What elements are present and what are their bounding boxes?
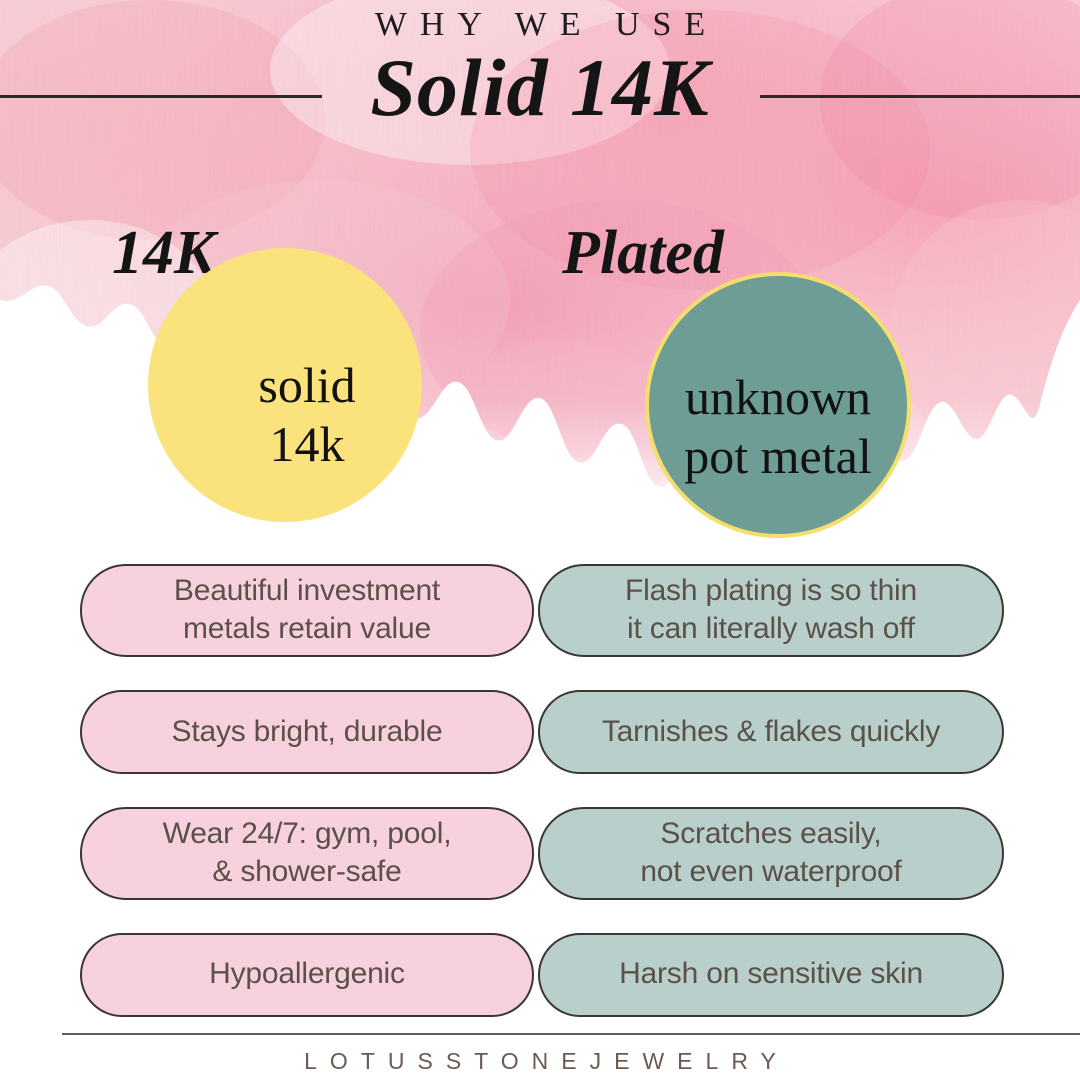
circle-plated-line1: unknown	[684, 368, 871, 427]
pill-text-line1: Stays bright, durable	[172, 713, 443, 751]
pill-solid-14k: Hypoallergenic	[80, 933, 534, 1017]
comparison-row: Beautiful investment metals retain value…	[0, 564, 1080, 657]
pill-text-line1: Flash plating is so thin	[625, 574, 917, 607]
footer-rule	[62, 1033, 1080, 1035]
pill-plated: Scratches easily, not even waterproof	[538, 807, 1004, 900]
circle-solid-14k: solid 14k	[148, 248, 422, 522]
comparison-row: Hypoallergenic Harsh on sensitive skin	[0, 933, 1080, 1017]
comparison-pill-grid: Beautiful investment metals retain value…	[0, 564, 1080, 1050]
pill-plated: Tarnishes & flakes quickly	[538, 690, 1004, 774]
pill-text-line2: metals retain value	[183, 612, 431, 645]
pill-solid-14k: Stays bright, durable	[80, 690, 534, 774]
pill-text-line2: not even waterproof	[640, 855, 901, 888]
header-kicker: WHY WE USE	[0, 8, 1080, 42]
circle-label-plated: Plated	[562, 222, 724, 284]
comparison-row: Stays bright, durable Tarnishes & flakes…	[0, 690, 1080, 774]
pill-solid-14k: Beautiful investment metals retain value	[80, 564, 534, 657]
pill-text-line1: Tarnishes & flakes quickly	[602, 713, 940, 751]
comparison-row: Wear 24/7: gym, pool, & shower-safe Scra…	[0, 807, 1080, 900]
circle-plated-line2: pot metal	[684, 427, 871, 486]
pill-text-line1: Hypoallergenic	[209, 955, 405, 993]
pill-text-line2: & shower-safe	[212, 855, 401, 888]
page-title: Solid 14K	[0, 44, 1080, 133]
circle-14k-line1: solid	[258, 356, 355, 415]
brand-name: LOTUSSTONEJEWELRY	[0, 1048, 1080, 1075]
pill-solid-14k: Wear 24/7: gym, pool, & shower-safe	[80, 807, 534, 900]
circle-plated-pot-metal: unknown pot metal	[645, 272, 911, 538]
pill-plated: Harsh on sensitive skin	[538, 933, 1004, 1017]
pill-text-line2: it can literally wash off	[627, 612, 915, 645]
pill-text-line1: Beautiful investment	[174, 574, 440, 607]
pill-plated: Flash plating is so thin it can literall…	[538, 564, 1004, 657]
pill-text-line1: Harsh on sensitive skin	[619, 955, 923, 993]
pill-text-line1: Scratches easily,	[660, 817, 881, 850]
pill-text-line1: Wear 24/7: gym, pool,	[163, 817, 452, 850]
circle-14k-line2: 14k	[258, 415, 355, 474]
circle-label-14k: 14K	[112, 222, 215, 284]
infographic-canvas: WHY WE USE Solid 14K 14K solid 14k Plate…	[0, 0, 1080, 1080]
